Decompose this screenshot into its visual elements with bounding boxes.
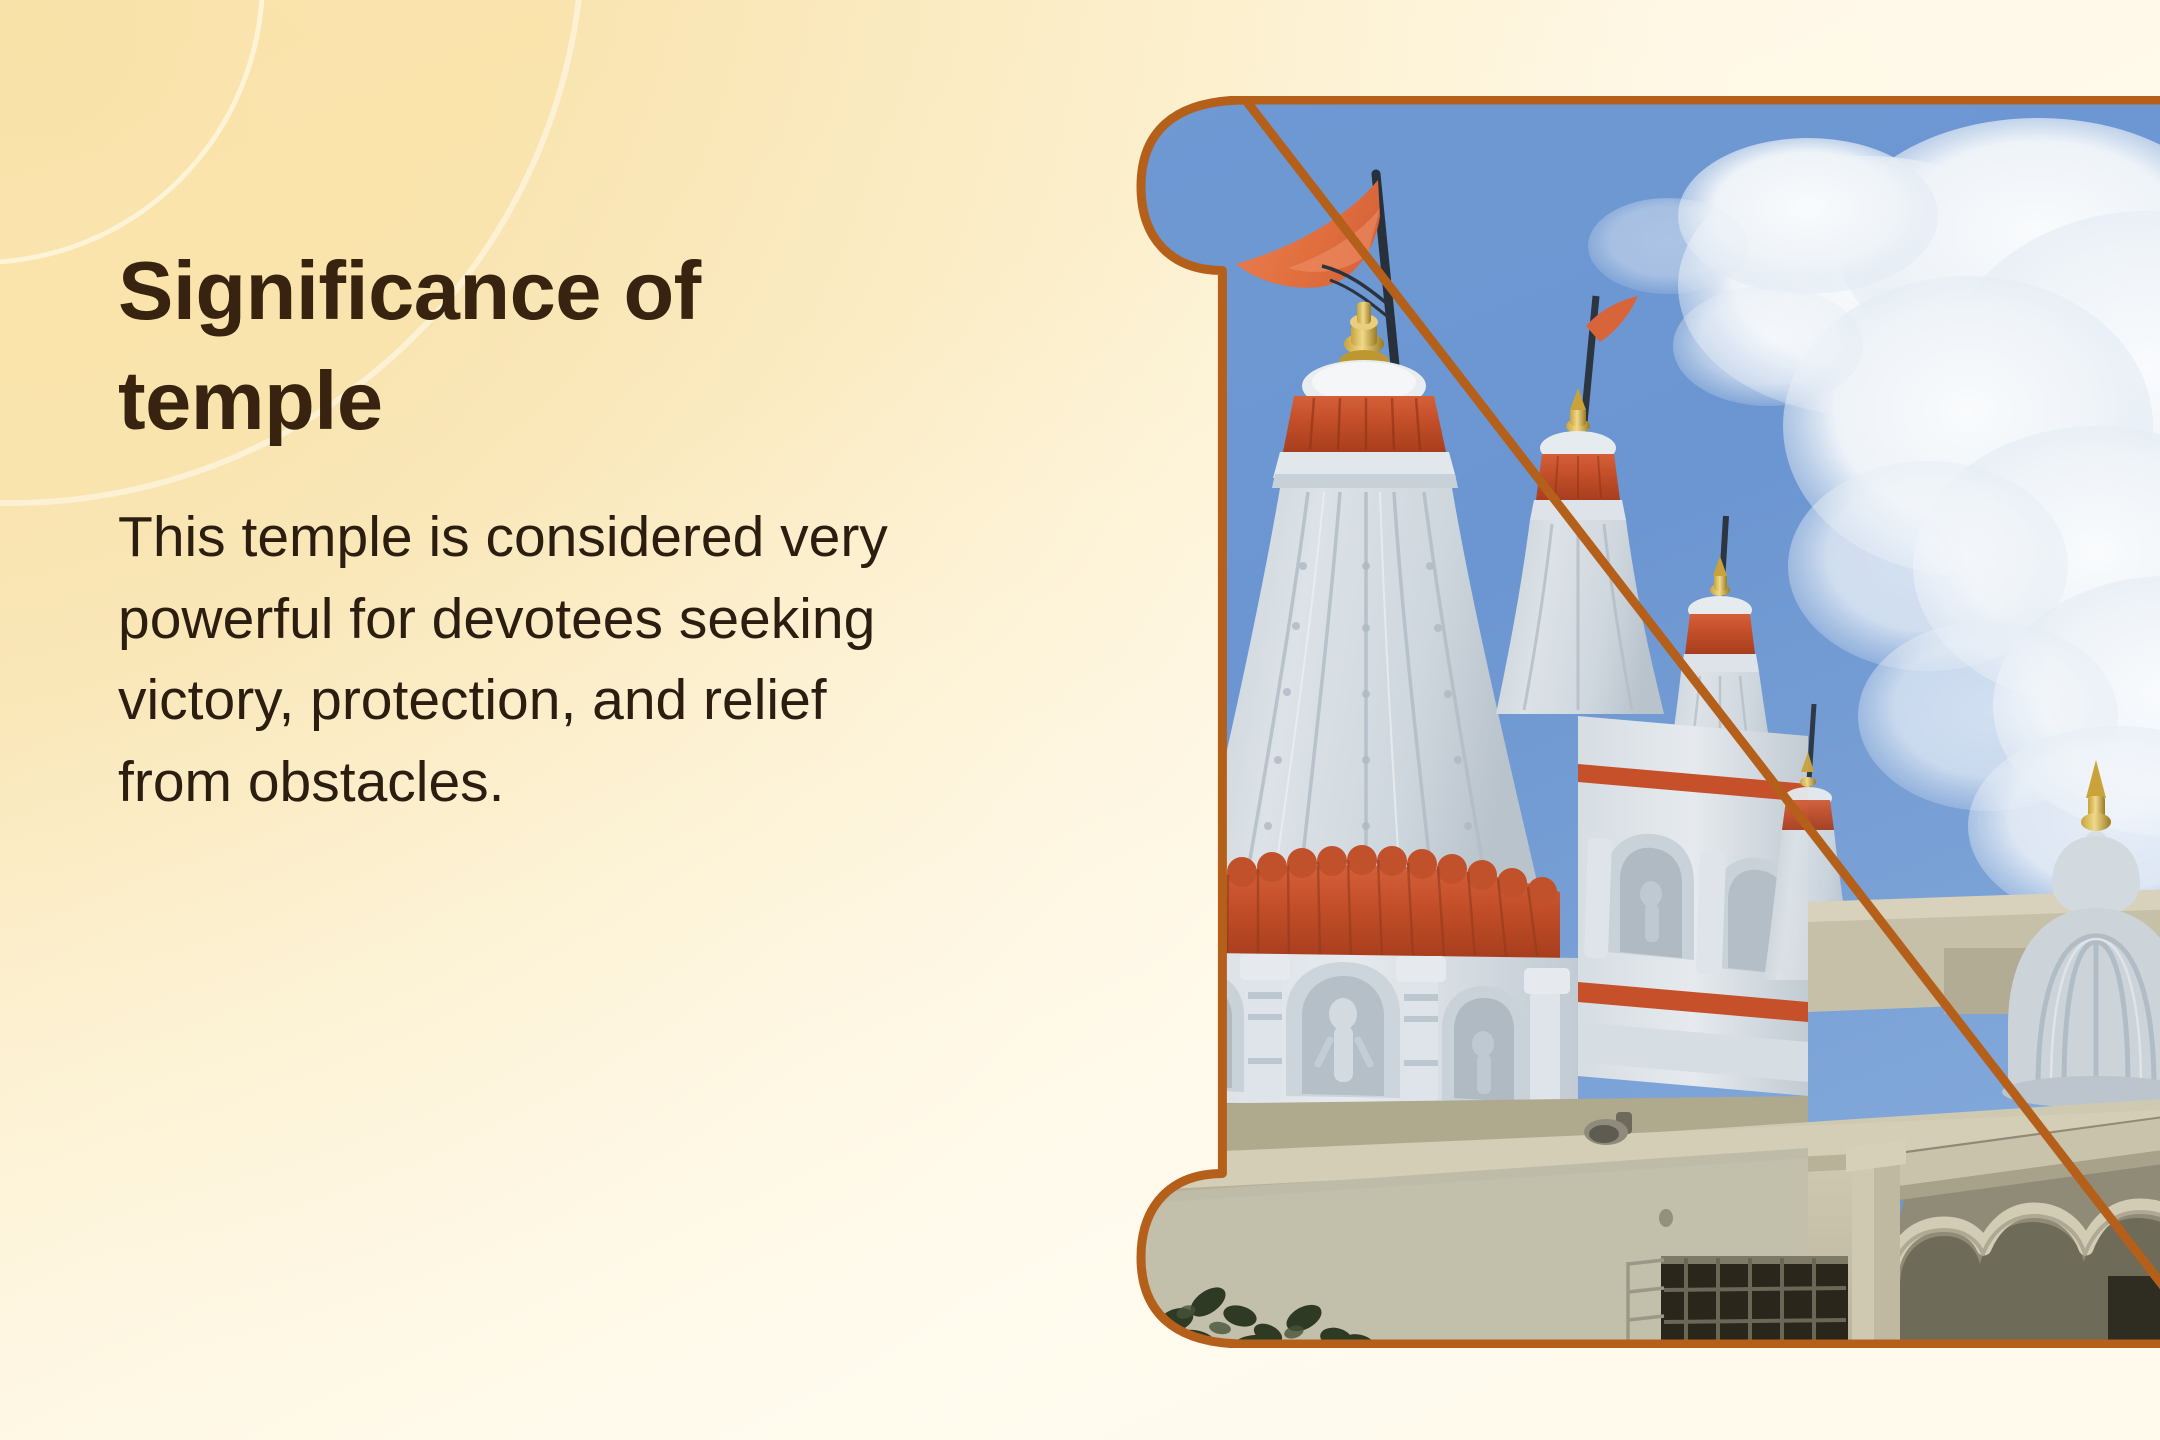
text-column: Significance of temple This temple is co…	[118, 236, 978, 823]
page-title: Significance of temple	[118, 236, 818, 455]
temple-photo-clip	[1108, 96, 2160, 1348]
body-paragraph: This temple is considered very powerful …	[118, 497, 948, 823]
temple-photograph	[1108, 96, 2160, 1348]
temple-photo-frame	[1108, 96, 2160, 1348]
slide: Significance of temple This temple is co…	[0, 0, 2160, 1440]
